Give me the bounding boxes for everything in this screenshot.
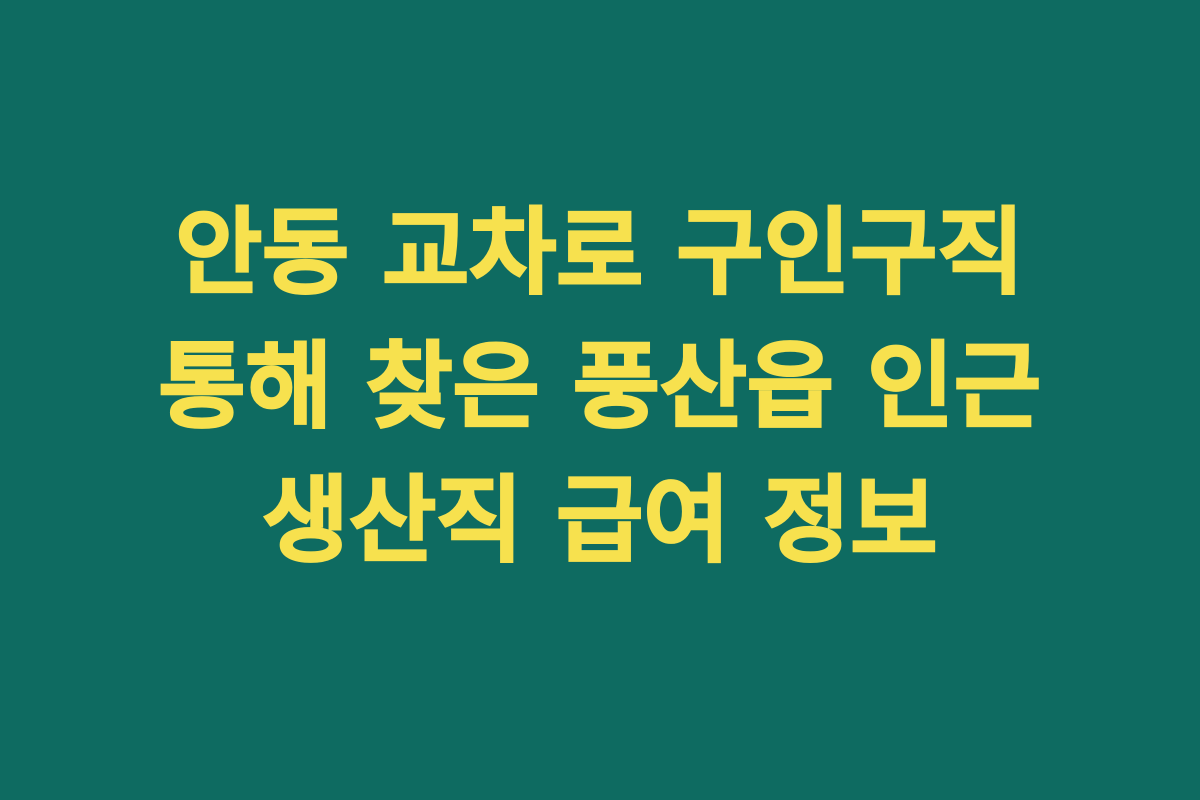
banner-canvas: 안동 교차로 구인구직 통해 찾은 풍산읍 인근 생산직 급여 정보 — [0, 0, 1200, 800]
headline-line-3: 생산직 급여 정보 — [40, 455, 1160, 589]
headline-block: 안동 교차로 구인구직 통해 찾은 풍산읍 인근 생산직 급여 정보 — [0, 187, 1200, 589]
headline-line-1: 안동 교차로 구인구직 — [40, 187, 1160, 321]
headline-line-2: 통해 찾은 풍산읍 인근 — [40, 321, 1160, 455]
